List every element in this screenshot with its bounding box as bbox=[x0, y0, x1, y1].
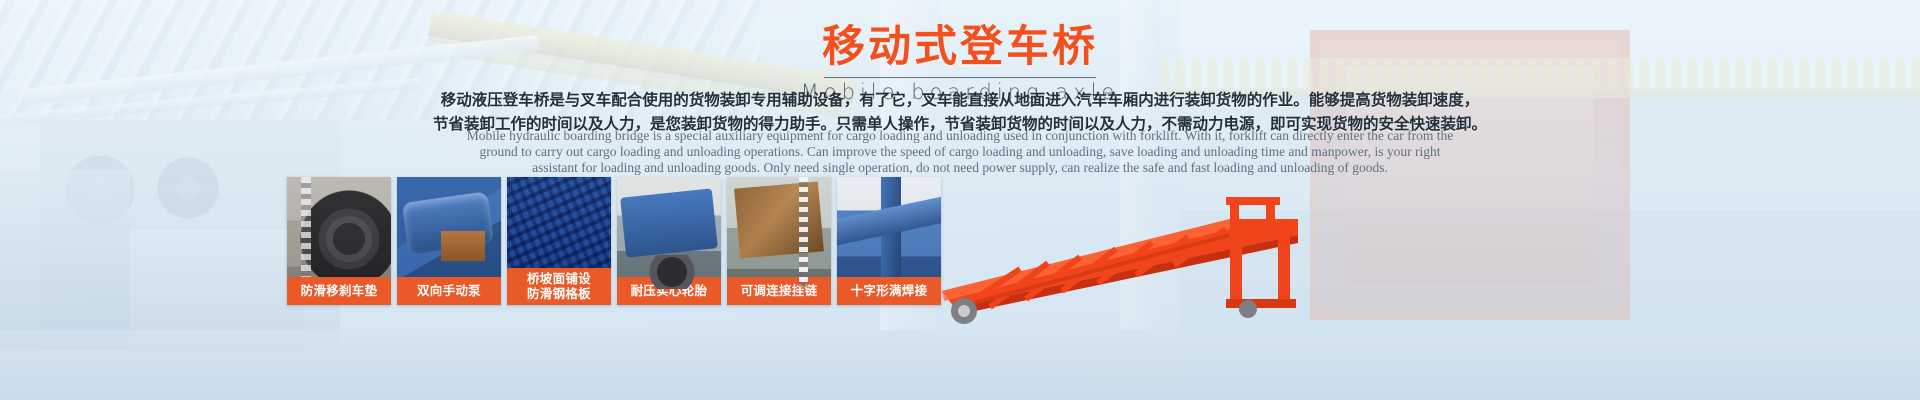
feature-card-6[interactable]: 十字形满焊接 bbox=[837, 177, 941, 305]
feature-caption-6: 十字形满焊接 bbox=[837, 277, 941, 305]
feature-caption-1: 防滑移刹车垫 bbox=[287, 277, 391, 305]
feature-card-3[interactable]: 桥坡面铺设 防滑钢格板 bbox=[507, 177, 611, 305]
feature-card-1[interactable]: 防滑移刹车垫 bbox=[287, 177, 391, 305]
description-english: Mobile hydraulic boarding bridge is a sp… bbox=[460, 128, 1460, 176]
feature-card-2[interactable]: 双向手动泵 bbox=[397, 177, 501, 305]
feature-caption-2: 双向手动泵 bbox=[397, 277, 501, 305]
feature-card-5[interactable]: 可调连接挂链 bbox=[727, 177, 831, 305]
description-chinese-line-1: 移动液压登车桥是与叉车配合使用的货物装卸专用辅助设备，有了它，叉车能直接从地面进… bbox=[390, 88, 1530, 112]
feature-caption-5: 可调连接挂链 bbox=[727, 277, 831, 305]
feature-caption-3: 桥坡面铺设 防滑钢格板 bbox=[507, 268, 611, 305]
promo-banner: 移动式登车桥 Mobile boarding axle 移动液压登车桥是与叉车配… bbox=[0, 0, 1920, 400]
mobile-boarding-ramp-image bbox=[930, 195, 1310, 335]
feature-card-4[interactable]: 耐压实心轮胎 bbox=[617, 177, 721, 305]
feature-thumbnail-strip: 防滑移刹车垫 双向手动泵 桥坡面铺设 防滑钢格板 耐压实心轮胎 可调连接挂链 十… bbox=[287, 177, 941, 305]
